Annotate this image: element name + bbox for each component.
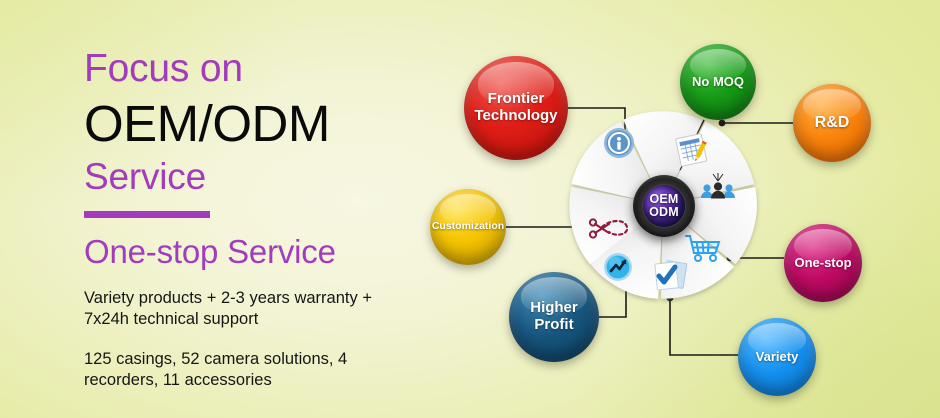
headline-one-stop-service: One-stop Service — [84, 232, 414, 272]
headline-service: Service — [84, 155, 414, 199]
bubble-label-frontier-technology: FrontierTechnology — [470, 91, 561, 125]
camera-lens-icon: OEM ODM — [633, 175, 695, 237]
bubble-label-higher-profit: HigherProfit — [526, 300, 582, 334]
capability-wheel-diagram: OEM ODM FrontierTechnology Customization… — [408, 0, 940, 418]
body-paragraph-catalog: 125 casings, 52 camera solutions, 4 reco… — [84, 349, 372, 391]
growth-arrow-icon — [604, 253, 632, 281]
bubble-one-stop[interactable]: One-stop — [784, 224, 862, 302]
bubble-label-customization: Customization — [428, 221, 508, 233]
bubble-label-one-stop: One-stop — [790, 256, 855, 271]
connector-variety — [670, 298, 738, 355]
lens-inner-glass: OEM ODM — [643, 185, 685, 227]
oem-odm-promo-banner: Focus on OEM/ODM Service One-stop Servic… — [0, 0, 940, 418]
body-paragraph-warranty: Variety products + 2-3 years warranty + … — [84, 288, 372, 330]
bubble-no-moq[interactable]: No MOQ — [680, 44, 756, 120]
hub-label-odm: ODM — [649, 206, 679, 219]
purple-divider-rule — [84, 211, 210, 218]
bubble-rd[interactable]: R&D — [793, 84, 871, 162]
bubble-frontier-technology[interactable]: FrontierTechnology — [464, 56, 568, 160]
headline-copy-block: Focus on OEM/ODM Service One-stop Servic… — [84, 46, 414, 391]
bubble-variety[interactable]: Variety — [738, 318, 816, 396]
headline-oem-odm: OEM/ODM — [84, 94, 414, 154]
bubble-label-rd: R&D — [811, 114, 854, 132]
bubble-label-variety: Variety — [752, 350, 803, 365]
bubble-label-no-moq: No MOQ — [688, 75, 748, 90]
bubble-customization[interactable]: Customization — [430, 189, 506, 265]
bubble-higher-profit[interactable]: HigherProfit — [509, 272, 599, 362]
info-circle-icon — [604, 128, 634, 158]
headline-focus-on: Focus on — [84, 46, 414, 92]
checked-document-icon — [655, 261, 687, 290]
